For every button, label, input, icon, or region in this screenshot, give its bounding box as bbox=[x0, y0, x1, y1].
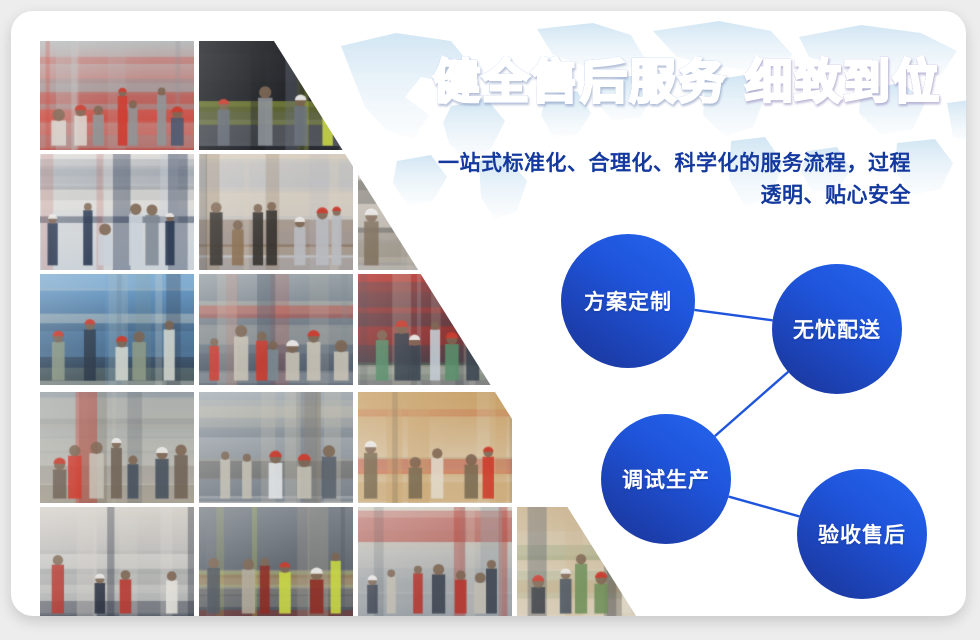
photo-signing-ceremony bbox=[358, 274, 512, 385]
photo-showroom-tour bbox=[358, 392, 512, 503]
photo-vest-team-machine bbox=[199, 507, 353, 616]
photo-workshop-helmets bbox=[199, 274, 353, 385]
photo-pipe-inspection bbox=[40, 392, 194, 503]
node-plan-label: 方案定制 bbox=[584, 286, 672, 316]
subtitle-line-2: 透明、贴心安全 bbox=[341, 180, 911, 212]
headline-secondary: 细致到位 bbox=[745, 56, 941, 109]
node-delivery-label: 无忧配送 bbox=[793, 314, 881, 344]
subtitle-block: 一站式标准化、合理化、科学化的服务流程，过程 透明、贴心安全 bbox=[341, 148, 911, 212]
node-plan[interactable]: 方案定制 bbox=[561, 234, 695, 368]
photo-equipment-review bbox=[199, 392, 353, 503]
headline-block: 健全售后服务细致到位 bbox=[341, 56, 941, 109]
photo-building-entrance bbox=[358, 507, 512, 616]
photo-company-group-photo bbox=[40, 507, 194, 616]
node-debug-label: 调试生产 bbox=[622, 464, 710, 494]
banner-card: 方案定制无忧配送调试生产验收售后 健全售后服务细致到位 一站式标准化、合理化、科… bbox=[11, 11, 966, 616]
photo-construction-site bbox=[40, 274, 194, 385]
promo-banner: { "header": { "title_part1": "健全售后服务", "… bbox=[0, 0, 980, 640]
connector-node-plan-to-node-delivery bbox=[694, 310, 772, 320]
connector-node-delivery-to-node-debug bbox=[715, 372, 788, 436]
photo-meeting-room bbox=[199, 154, 353, 270]
photo-safety-vest-group bbox=[199, 41, 353, 150]
node-service-label: 验收售后 bbox=[818, 519, 906, 549]
photo-factory-tour-helmets bbox=[40, 41, 194, 150]
headline-primary: 健全售后服务 bbox=[433, 56, 727, 109]
connector-node-debug-to-node-service bbox=[729, 497, 800, 517]
node-debug[interactable]: 调试生产 bbox=[601, 414, 731, 544]
node-delivery[interactable]: 无忧配送 bbox=[772, 264, 902, 394]
node-service[interactable]: 验收售后 bbox=[797, 469, 927, 599]
photo-lobby-handshake bbox=[40, 154, 194, 270]
subtitle-line-1: 一站式标准化、合理化、科学化的服务流程，过程 bbox=[341, 148, 911, 180]
